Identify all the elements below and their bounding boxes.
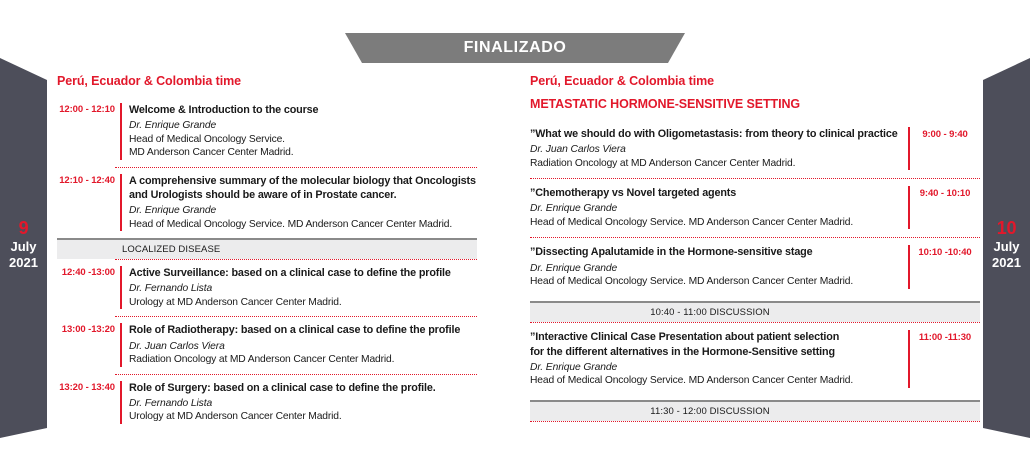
session-affiliation: Urology at MD Anderson Cancer Center Mad… bbox=[129, 410, 477, 424]
agenda-page: 9 July 2021 10 July 2021 FINALIZADO Perú… bbox=[0, 0, 1030, 450]
session-title: ”Dissecting Apalutamide in the Hormone-s… bbox=[530, 245, 900, 259]
session-speaker: Dr. Fernando Lista bbox=[129, 397, 477, 410]
session-time: 10:10 -10:40 bbox=[910, 245, 980, 258]
band-label: 11:30 - 12:00 DISCUSSION bbox=[650, 406, 859, 417]
session-title: Active Surveillance: based on a clinical… bbox=[129, 266, 477, 280]
timezone-heading: Perú, Ecuador & Colombia time bbox=[57, 74, 477, 88]
agenda-row[interactable]: ”Chemotherapy vs Novel targeted agentsDr… bbox=[530, 179, 980, 237]
accent-bar bbox=[120, 103, 122, 160]
session-speaker: Dr. Enrique Grande bbox=[530, 202, 900, 215]
session-affiliation: Head of Medical Oncology Service. MD And… bbox=[530, 374, 900, 388]
agenda-row[interactable]: ”What we should do with Oligometastasis:… bbox=[530, 120, 980, 178]
section-heading: METASTATIC HORMONE-SENSITIVE SETTING bbox=[530, 97, 980, 111]
session-affiliation: Head of Medical Oncology Service. MD And… bbox=[129, 218, 477, 232]
session-body: ”What we should do with Oligometastasis:… bbox=[530, 127, 908, 170]
day-tab-right-content: 10 July 2021 bbox=[983, 218, 1030, 270]
discussion-band: 11:30 - 12:00 DISCUSSION bbox=[530, 400, 980, 421]
agenda-column-day-10: Perú, Ecuador & Colombia time METASTATIC… bbox=[530, 74, 980, 422]
band-label: LOCALIZED DISEASE bbox=[122, 244, 220, 255]
session-affiliation: Head of Medical Oncology Service. MD And… bbox=[530, 216, 900, 230]
day-tab-left[interactable]: 9 July 2021 bbox=[0, 48, 47, 438]
session-speaker: Dr. Fernando Lista bbox=[129, 282, 477, 295]
session-body: ”Dissecting Apalutamide in the Hormone-s… bbox=[530, 245, 908, 288]
day-month: July bbox=[983, 239, 1030, 254]
day-number: 9 bbox=[0, 218, 47, 239]
agenda-row[interactable]: 12:40 -13:00Active Surveillance: based o… bbox=[57, 260, 477, 316]
session-title: Welcome & Introduction to the course bbox=[129, 103, 477, 117]
accent-bar bbox=[120, 381, 122, 424]
session-affiliation: Head of Medical Oncology Service. bbox=[129, 133, 477, 147]
session-body: Role of Radiotherapy: based on a clinica… bbox=[129, 323, 477, 366]
day-tab-right[interactable]: 10 July 2021 bbox=[983, 48, 1030, 438]
agenda-column-day-9: Perú, Ecuador & Colombia time 12:00 - 12… bbox=[57, 74, 477, 431]
session-time: 13:00 -13:20 bbox=[57, 323, 115, 335]
session-speaker: Dr. Enrique Grande bbox=[129, 204, 477, 217]
session-speaker: Dr. Enrique Grande bbox=[129, 119, 477, 132]
session-title: ”Interactive Clinical Case Presentation … bbox=[530, 330, 900, 344]
day-number: 10 bbox=[983, 218, 1030, 239]
status-banner-label: FINALIZADO bbox=[464, 39, 567, 57]
session-speaker: Dr. Enrique Grande bbox=[530, 361, 900, 374]
session-affiliation: Radiation Oncology at MD Anderson Cancer… bbox=[530, 157, 900, 171]
day-year: 2021 bbox=[0, 255, 47, 270]
session-time: 13:20 - 13:40 bbox=[57, 381, 115, 393]
session-body: Welcome & Introduction to the courseDr. … bbox=[129, 103, 477, 160]
session-title: ”What we should do with Oligometastasis:… bbox=[530, 127, 900, 141]
session-body: Active Surveillance: based on a clinical… bbox=[129, 266, 477, 309]
session-affiliation: Urology at MD Anderson Cancer Center Mad… bbox=[129, 296, 477, 310]
agenda-row[interactable]: ”Interactive Clinical Case Presentation … bbox=[530, 323, 980, 396]
status-banner: FINALIZADO bbox=[345, 33, 685, 63]
day-tab-left-content: 9 July 2021 bbox=[0, 218, 47, 270]
row-separator bbox=[530, 421, 980, 422]
session-time: 12:00 - 12:10 bbox=[57, 103, 115, 115]
session-time: 11:00 -11:30 bbox=[910, 330, 980, 343]
session-title: Role of Radiotherapy: based on a clinica… bbox=[129, 323, 477, 337]
band-label: 10:40 - 11:00 DISCUSSION bbox=[650, 307, 859, 318]
session-affiliation-line2: MD Anderson Cancer Center Madrid. bbox=[129, 146, 477, 160]
session-speaker: Dr. Juan Carlos Viera bbox=[530, 143, 900, 156]
session-affiliation: Head of Medical Oncology Service. MD And… bbox=[530, 275, 900, 289]
timezone-heading: Perú, Ecuador & Colombia time bbox=[530, 74, 980, 88]
discussion-band: 10:40 - 11:00 DISCUSSION bbox=[530, 301, 980, 322]
session-title: A comprehensive summary of the molecular… bbox=[129, 174, 477, 203]
agenda-rows-right: ”What we should do with Oligometastasis:… bbox=[530, 120, 980, 422]
session-title: ”Chemotherapy vs Novel targeted agents bbox=[530, 186, 900, 200]
session-time: 12:10 - 12:40 bbox=[57, 174, 115, 186]
session-speaker: Dr. Enrique Grande bbox=[530, 262, 900, 275]
day-month: July bbox=[0, 239, 47, 254]
agenda-row[interactable]: 12:10 - 12:40A comprehensive summary of … bbox=[57, 168, 477, 238]
session-title-line2: for the different alternatives in the Ho… bbox=[530, 345, 900, 359]
accent-bar bbox=[120, 174, 122, 231]
section-band: LOCALIZED DISEASE bbox=[57, 238, 477, 259]
agenda-row[interactable]: 12:00 - 12:10Welcome & Introduction to t… bbox=[57, 97, 477, 167]
session-time: 9:00 - 9:40 bbox=[910, 127, 980, 140]
session-body: Role of Surgery: based on a clinical cas… bbox=[129, 381, 477, 424]
accent-bar bbox=[120, 266, 122, 309]
agenda-row[interactable]: 13:20 - 13:40Role of Surgery: based on a… bbox=[57, 375, 477, 431]
session-title: Role of Surgery: based on a clinical cas… bbox=[129, 381, 477, 395]
session-time: 9:40 - 10:10 bbox=[910, 186, 980, 199]
session-body: A comprehensive summary of the molecular… bbox=[129, 174, 477, 231]
day-year: 2021 bbox=[983, 255, 1030, 270]
agenda-row[interactable]: ”Dissecting Apalutamide in the Hormone-s… bbox=[530, 238, 980, 296]
session-speaker: Dr. Juan Carlos Viera bbox=[129, 340, 477, 353]
session-body: ”Chemotherapy vs Novel targeted agentsDr… bbox=[530, 186, 908, 229]
accent-bar bbox=[120, 323, 122, 366]
agenda-row[interactable]: 13:00 -13:20Role of Radiotherapy: based … bbox=[57, 317, 477, 373]
session-affiliation: Radiation Oncology at MD Anderson Cancer… bbox=[129, 353, 477, 367]
session-body: ”Interactive Clinical Case Presentation … bbox=[530, 330, 908, 388]
agenda-rows-left: 12:00 - 12:10Welcome & Introduction to t… bbox=[57, 97, 477, 431]
session-time: 12:40 -13:00 bbox=[57, 266, 115, 278]
